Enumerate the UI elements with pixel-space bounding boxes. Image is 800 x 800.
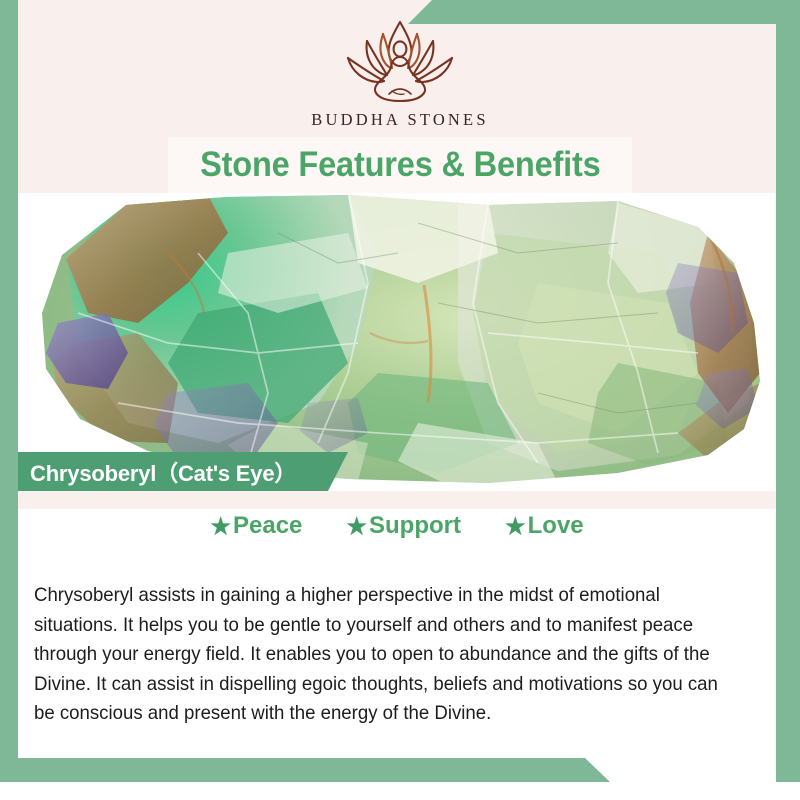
divider-strip	[18, 491, 776, 509]
stone-photo-graphic	[18, 193, 776, 491]
frame-accent-bottom	[0, 758, 800, 782]
keyword-love: ★ Love	[505, 512, 584, 540]
keyword-support-label: Support	[369, 512, 461, 540]
benefit-keywords: ★ Peace ★ Support ★ Love	[18, 512, 776, 540]
page-title: Stone Features & Benefits	[200, 145, 601, 185]
keyword-peace: ★ Peace	[210, 512, 302, 540]
stone-name-label: Chrysoberyl（Cat's Eye）	[18, 456, 296, 488]
keyword-support: ★ Support	[346, 512, 461, 540]
keyword-love-label: Love	[528, 512, 584, 540]
brand-wordmark: BUDDHA STONES	[0, 110, 800, 130]
stone-name-banner: Chrysoberyl（Cat's Eye）	[18, 452, 348, 491]
star-icon: ★	[346, 515, 367, 538]
brand-logo: BUDDHA STONES	[0, 16, 800, 130]
page-title-bar: Stone Features & Benefits	[168, 137, 632, 193]
keyword-peace-label: Peace	[233, 512, 302, 540]
lotus-meditation-icon	[334, 16, 466, 104]
stone-description: Chrysoberyl assists in gaining a higher …	[34, 581, 729, 729]
stone-photo	[18, 193, 776, 491]
star-icon: ★	[210, 515, 231, 538]
star-icon: ★	[505, 515, 526, 538]
product-info-card: BUDDHA STONES Stone Features & Benefits	[0, 0, 800, 800]
